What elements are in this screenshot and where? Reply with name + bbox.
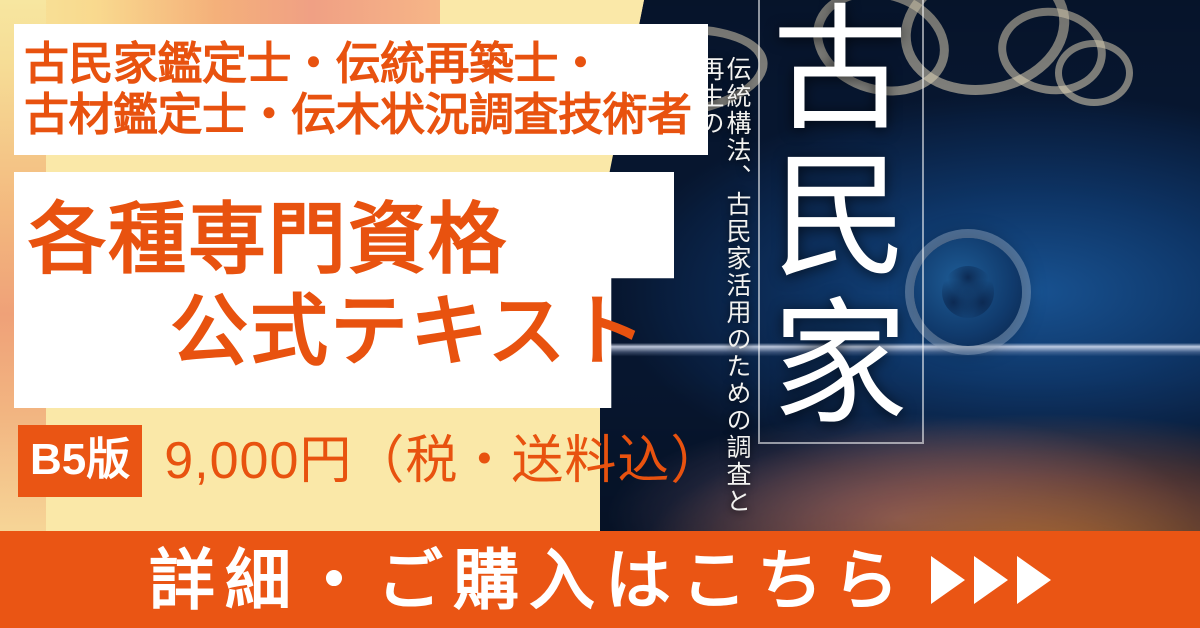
qualifications-line-2: 古材鑑定士・伝木状況調査技術者 [24,89,714,141]
main-headline: 各種専門資格 公式テキスト [14,172,674,408]
price-text: 9,000円（税・送料込） [164,435,723,487]
book-title-char-1: 古 [772,4,908,140]
cta-bar[interactable]: 詳細・ご購入はこちら [0,531,1200,628]
headline-line-1: 各種専門資格 [28,196,508,283]
cta-label: 詳細・ご購入はこちら [149,547,909,613]
cta-arrow-group [931,556,1051,604]
format-badge-b5: B5版 [18,425,142,497]
book-title-vertical: 古 民 家 [760,4,920,434]
promo-banner: 古 民 家 伝統構法、古民家活用のための調査と再生の 古民家鑑定士・伝統再築士・… [0,0,1200,628]
triangle-right-icon [974,556,1008,604]
triangle-right-icon [1017,556,1051,604]
qualifications-heading: 古民家鑑定士・伝統再築士・ 古材鑑定士・伝木状況調査技術者 [14,24,714,155]
headline-line-2: 公式テキスト [170,288,648,375]
price-row: B5版 9,000円（税・送料込） [18,425,723,497]
book-title-char-3: 家 [772,298,908,434]
book-title-char-2: 民 [772,151,908,287]
qualifications-line-1: 古民家鑑定士・伝統再築士・ [24,38,714,90]
triangle-right-icon [931,556,965,604]
